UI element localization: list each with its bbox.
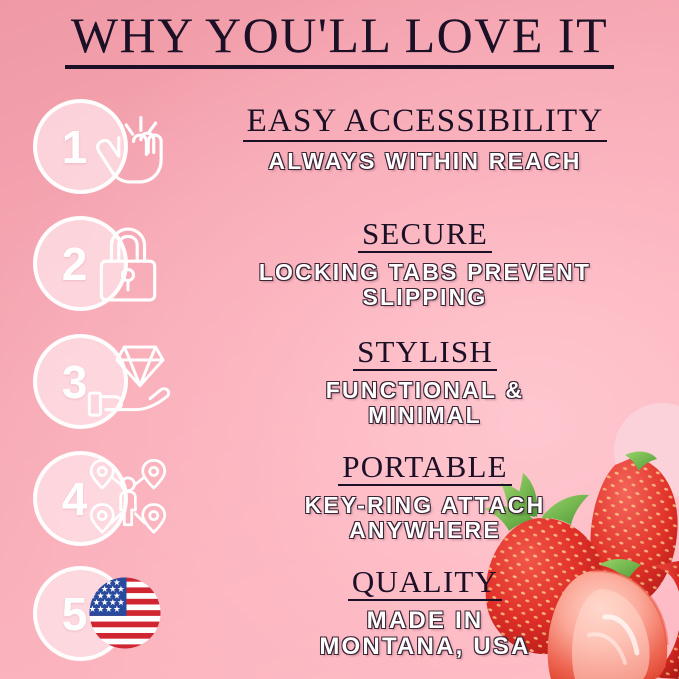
person-location-pins-icon	[82, 453, 174, 545]
feature-text: STYLISH FUNCTIONAL &MINIMAL	[185, 336, 665, 428]
feature-heading: QUALITY	[348, 566, 502, 601]
feature-text: PORTABLE KEY-RING ATTACHANYWHERE	[185, 451, 665, 543]
feature-subtitle: ALWAYS WITHIN REACH	[185, 149, 665, 174]
hand-tap-icon	[82, 101, 174, 193]
feature-heading: PORTABLE	[338, 451, 511, 486]
feature-row: 4 PORTABLE KEY-RING ATTACHANYWHERE	[0, 447, 679, 562]
feature-row: 3 STYLISH FUNCTIONAL &MINIMAL	[0, 330, 679, 445]
feature-heading: SECURE	[358, 218, 492, 253]
feature-number: 5	[62, 591, 88, 637]
feature-text: EASY ACCESSIBILITY ALWAYS WITHIN REACH	[185, 105, 665, 174]
feature-subtitle: MADE INMONTANA, USA	[185, 608, 665, 660]
feature-row: 2 SECURE LOCKING TABS PREVENTSLIPPING	[0, 212, 679, 327]
page-title: WHY YOU'LL LOVE IT	[65, 10, 614, 69]
feature-text: SECURE LOCKING TABS PREVENTSLIPPING	[185, 218, 665, 310]
feature-heading: STYLISH	[353, 336, 497, 371]
feature-text: QUALITY MADE INMONTANA, USA	[185, 566, 665, 660]
poster-canvas: WHY YOU'LL LOVE IT 1 EASY ACCESSIBILITY …	[0, 0, 679, 679]
feature-row: 5	[0, 562, 679, 677]
feature-heading: EASY ACCESSIBILITY	[243, 105, 608, 142]
feature-subtitle: FUNCTIONAL &MINIMAL	[185, 378, 665, 428]
padlock-icon	[82, 218, 174, 310]
feature-subtitle: KEY-RING ATTACHANYWHERE	[185, 493, 665, 543]
feature-row: 1 EASY ACCESSIBILITY ALWAYS WITHIN REACH	[0, 95, 679, 210]
hand-holding-diamond-icon	[82, 336, 174, 428]
poster-title-wrap: WHY YOU'LL LOVE IT	[0, 10, 679, 69]
feature-subtitle: LOCKING TABS PREVENTSLIPPING	[185, 260, 665, 310]
usa-flag-circle-icon	[88, 576, 162, 650]
